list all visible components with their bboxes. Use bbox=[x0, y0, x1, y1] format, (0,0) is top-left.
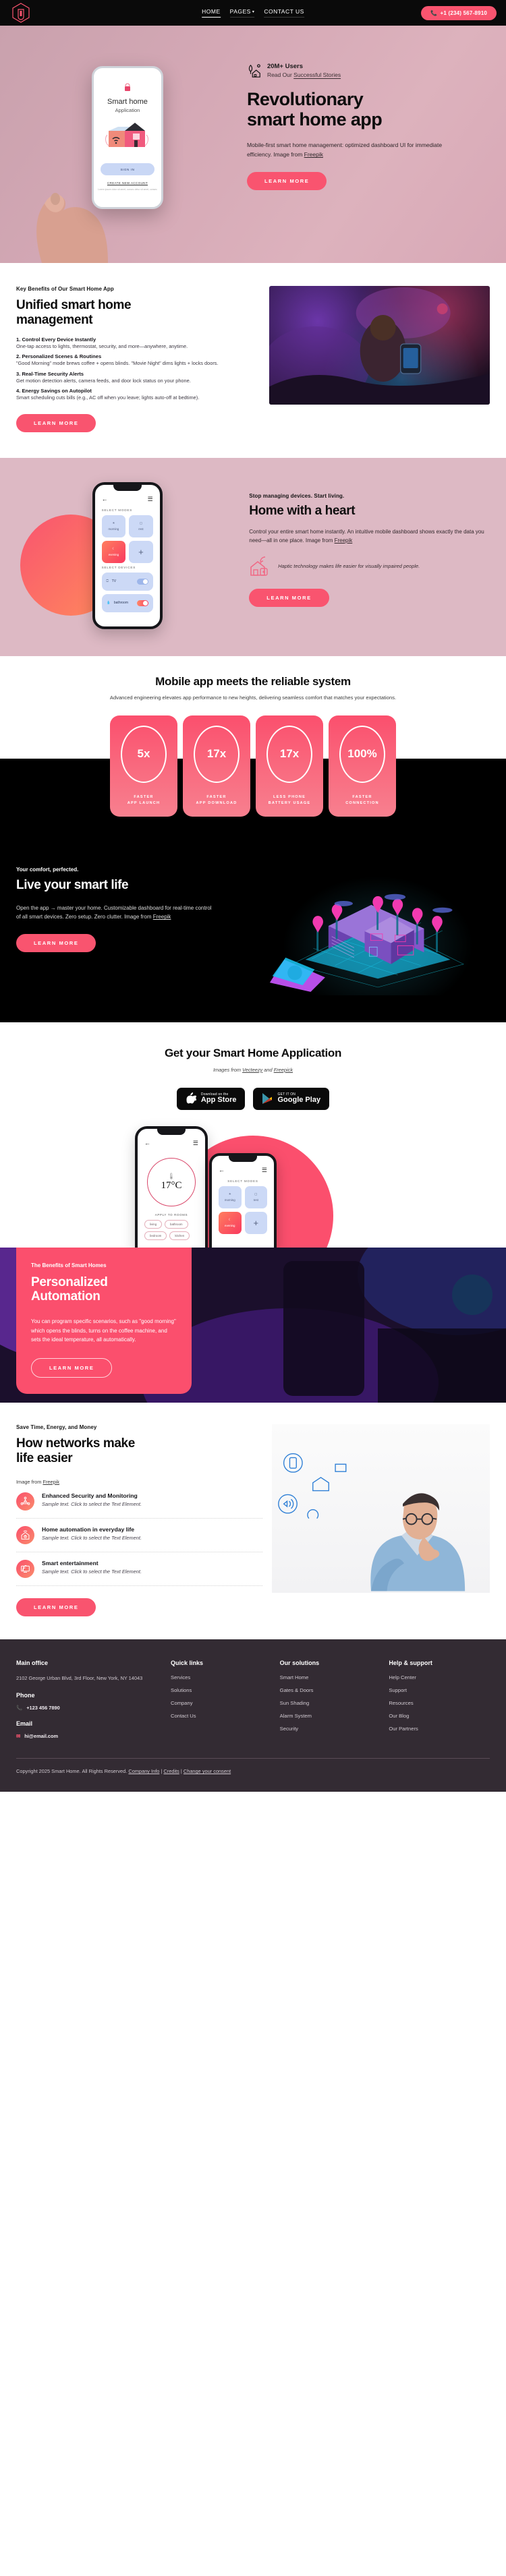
hamburger-menu-icon[interactable]: ☰ bbox=[193, 1140, 198, 1147]
device-toggle[interactable] bbox=[137, 600, 148, 606]
footer-help-column: Help & support Help Center Support Resou… bbox=[389, 1660, 490, 1740]
room-chip[interactable]: kitchen bbox=[169, 1231, 190, 1240]
benefits-title-line1: Unified smart home bbox=[16, 298, 131, 312]
mode-label: morning bbox=[225, 1198, 235, 1202]
hero-learn-more-button[interactable]: LEARN MORE bbox=[247, 172, 327, 190]
network-item-heading: Enhanced Security and Monitoring bbox=[42, 1492, 142, 1499]
sun-icon: ☀ bbox=[229, 1192, 231, 1196]
image-credit-prefix: Image from bbox=[16, 1479, 43, 1485]
sofa-icon: ▢ bbox=[254, 1192, 257, 1196]
benefit-heading: 1. Control Every Device Instantly bbox=[16, 336, 256, 343]
credits-link[interactable]: Credits bbox=[163, 1768, 179, 1774]
home-wifi-icon bbox=[16, 1526, 34, 1544]
temperature-value: 17°C bbox=[161, 1180, 181, 1192]
device-label: TV bbox=[112, 579, 116, 583]
heart-paragraph-text: Control your entire smart home instantly… bbox=[249, 529, 484, 544]
hero-paragraph-link[interactable]: Freepik bbox=[304, 151, 323, 158]
footer-column-heading: Our solutions bbox=[280, 1660, 381, 1666]
mode-card-rest[interactable]: ▢ rest bbox=[129, 515, 153, 537]
site-header: HOME PAGES ▾ CONTACT US 📞 +1 (234) 567-8… bbox=[0, 0, 506, 26]
phone-icon: 📞 bbox=[16, 1705, 22, 1711]
get-app-section: Get your Smart Home Application Images f… bbox=[0, 1022, 506, 1248]
automation-title: Personalized Automation bbox=[31, 1275, 177, 1304]
stat-caption-line1: LESS PHONE bbox=[273, 795, 306, 799]
stat-caption: FASTER CONNECTION bbox=[345, 794, 379, 807]
mode-label: evening bbox=[225, 1224, 235, 1227]
footer-column-heading: Help & support bbox=[389, 1660, 490, 1666]
phone-notch bbox=[113, 485, 142, 491]
thermostat-phone-mockup: ← ☰ 🌡 17°C APPLY TO ROOMS living bathroo… bbox=[135, 1126, 208, 1248]
benefit-heading: 3. Real-Time Security Alerts bbox=[16, 371, 256, 377]
hero-stories-line: Read Our Successful Stories bbox=[267, 71, 341, 78]
stats-cards: 5x FASTER APP LAUNCH 17x FASTER APP DOWN… bbox=[0, 715, 506, 817]
mode-label: evening bbox=[109, 553, 119, 556]
nav-item-contact-us[interactable]: CONTACT US bbox=[264, 8, 304, 18]
mode-card-rest[interactable]: ▢ rest bbox=[245, 1186, 268, 1208]
footer-link[interactable]: Sun Shading bbox=[280, 1700, 381, 1706]
stat-card: 5x FASTER APP LAUNCH bbox=[110, 715, 177, 817]
google-play-line2: Google Play bbox=[277, 1096, 320, 1105]
network-item-heading: Home automation in everyday life bbox=[42, 1526, 142, 1533]
live-paragraph: Open the app → master your home. Customi… bbox=[16, 904, 212, 922]
footer-email-heading: Email bbox=[16, 1720, 163, 1727]
stat-value: 17x bbox=[194, 726, 240, 783]
mode-card-morning[interactable]: ☀ morning bbox=[102, 515, 126, 537]
hero-phone-title: Smart home bbox=[94, 98, 161, 106]
nav-item-pages[interactable]: PAGES ▾ bbox=[230, 8, 255, 18]
footer-link[interactable]: Our Blog bbox=[389, 1713, 490, 1719]
moon-icon: ☾ bbox=[229, 1218, 231, 1222]
back-arrow-icon[interactable]: ← bbox=[102, 496, 108, 503]
smart-home-logo[interactable] bbox=[9, 1, 32, 24]
hero-phone-subtitle: Application bbox=[94, 107, 161, 113]
stats-title: Mobile app meets the reliable system bbox=[0, 675, 506, 689]
image-credit-link[interactable]: Freepik bbox=[43, 1479, 59, 1485]
app-store-line2: App Store bbox=[201, 1096, 237, 1105]
hero-phone-mockup: Smart home Application bbox=[92, 66, 163, 209]
change-consent-link[interactable]: Change your consent bbox=[184, 1768, 231, 1774]
device-toggle[interactable] bbox=[137, 579, 148, 585]
footer-office-heading: Main office bbox=[16, 1660, 163, 1666]
networks-section: Save Time, Energy, and Money How network… bbox=[0, 1403, 506, 1639]
tv-icon: ⎕ bbox=[107, 579, 109, 583]
select-devices-label: SELECT DEVICES bbox=[95, 566, 160, 569]
stat-caption-line1: FASTER bbox=[206, 795, 226, 799]
room-chip-list: living bathroom bedroom kitchen bbox=[138, 1217, 205, 1240]
hero-title-line1: Revolutionary bbox=[247, 89, 363, 109]
automation-title-line1: Personalized bbox=[31, 1275, 108, 1289]
benefit-body: "Good Morning" mode brews coffee + opens… bbox=[16, 359, 256, 367]
live-title: Live your smart life bbox=[16, 878, 259, 893]
footer-email-value: hi@email.com bbox=[24, 1733, 58, 1739]
hero-paragraph: Mobile-first smart home management: opti… bbox=[247, 140, 453, 159]
benefits-title: Unified smart home management bbox=[16, 298, 256, 328]
hero-paragraph-text: Mobile-first smart home management: opti… bbox=[247, 142, 442, 158]
benefits-section: Key Benefits of Our Smart Home App Unifi… bbox=[0, 263, 506, 458]
stat-card: 17x LESS PHONE BATTERY USAGE bbox=[256, 715, 323, 817]
stat-value: 100% bbox=[339, 726, 385, 783]
stat-caption-line2: CONNECTION bbox=[345, 801, 379, 805]
stats-subtitle: Advanced engineering elevates app perfor… bbox=[0, 695, 506, 701]
device-row-bathroom[interactable]: 💧 bathroom bbox=[102, 594, 153, 612]
chevron-down-icon: ▾ bbox=[252, 9, 255, 14]
stat-value: 17x bbox=[266, 726, 312, 783]
device-label: bathroom bbox=[114, 601, 128, 605]
automation-paragraph: You can program specific scenarios, such… bbox=[31, 1317, 177, 1345]
mode-label: rest bbox=[138, 527, 143, 531]
benefit-heading: 2. Personalized Scenes & Routines bbox=[16, 353, 256, 359]
stat-caption: FASTER APP LAUNCH bbox=[128, 794, 161, 807]
stat-caption-line2: APP DOWNLOAD bbox=[196, 801, 237, 805]
footer-office-address: 2102 George Urban Blvd, 3rd Floor, New Y… bbox=[16, 1674, 163, 1683]
credits-prefix: Images from bbox=[213, 1067, 242, 1073]
stat-caption: LESS PHONE BATTERY USAGE bbox=[269, 794, 311, 807]
network-item-body: Sample text. Click to select the Text El… bbox=[42, 1535, 142, 1541]
hero-phone-visual: Smart home Application bbox=[16, 26, 239, 263]
smart-tv-icon bbox=[16, 1560, 34, 1578]
networks-image-credit: Image from Freepik bbox=[16, 1479, 262, 1485]
nav-label: CONTACT US bbox=[264, 8, 304, 15]
list-divider bbox=[16, 1585, 262, 1586]
heart-title: Home with a heart bbox=[249, 504, 490, 519]
benefits-list: 1. Control Every Device Instantly One-ta… bbox=[16, 336, 256, 402]
automation-card: The Benefits of Smart Homes Personalized… bbox=[16, 1248, 192, 1394]
network-item-automation[interactable]: Home automation in everyday life Sample … bbox=[16, 1518, 262, 1552]
heart-kicker: Stop managing devices. Start living. bbox=[249, 493, 490, 499]
footer-solutions-column: Our solutions Smart Home Gates & Doors S… bbox=[280, 1660, 381, 1740]
device-row-tv[interactable]: ⎕ TV bbox=[102, 573, 153, 591]
footer-copyright: Copyright 2025 Smart Home. All Rights Re… bbox=[16, 1759, 490, 1792]
google-play-icon bbox=[262, 1092, 273, 1105]
hero-users-count: 20M+ Users bbox=[267, 63, 341, 70]
thermometer-icon: 🌡 bbox=[167, 1173, 175, 1180]
nav-item-home[interactable]: HOME bbox=[202, 8, 221, 18]
network-item-heading: Smart entertainment bbox=[42, 1560, 142, 1567]
automation-title-line2: Automation bbox=[31, 1289, 101, 1304]
benefits-photo bbox=[269, 286, 490, 405]
stat-caption-line1: FASTER bbox=[352, 795, 372, 799]
house-tree-icon bbox=[247, 63, 262, 78]
google-play-button[interactable]: GET IT ON Google Play bbox=[253, 1088, 329, 1110]
apple-icon bbox=[186, 1092, 196, 1105]
footer-link[interactable]: Resources bbox=[389, 1700, 490, 1706]
footer-link[interactable]: Security bbox=[280, 1726, 381, 1732]
header-phone-button[interactable]: 📞 +1 (234) 567-8910 bbox=[421, 6, 497, 20]
footer-link[interactable]: Contact Us bbox=[171, 1713, 272, 1719]
stat-card: 100% FASTER CONNECTION bbox=[329, 715, 396, 817]
credits-mid: and bbox=[262, 1067, 273, 1073]
mode-card-evening[interactable]: ☾ evening bbox=[219, 1212, 242, 1234]
site-footer: Main office 2102 George Urban Blvd, 3rd … bbox=[0, 1639, 506, 1792]
footer-link[interactable]: Company bbox=[171, 1700, 272, 1706]
room-chip[interactable]: living bbox=[144, 1220, 162, 1229]
hero-phone-fine-print: Lorem ipsum dolor sit amet, consec detur… bbox=[94, 188, 161, 192]
copyright-text: Copyright 2025 Smart Home. All Rights Re… bbox=[16, 1768, 128, 1774]
stat-caption-line2: BATTERY USAGE bbox=[269, 801, 311, 805]
hero-stories-prefix: Read Our bbox=[267, 71, 293, 78]
network-item-body: Sample text. Click to select the Text El… bbox=[42, 1501, 142, 1507]
phone-notch bbox=[157, 1129, 186, 1135]
heart-learn-more-button[interactable]: LEARN MORE bbox=[249, 589, 329, 607]
live-kicker: Your comfort, perfected. bbox=[16, 867, 259, 873]
footer-link[interactable]: Support bbox=[389, 1687, 490, 1693]
footer-column-heading: Quick links bbox=[171, 1660, 272, 1666]
footer-email-row[interactable]: ✉ hi@email.com bbox=[16, 1733, 163, 1739]
mode-card-evening[interactable]: ☾ evening bbox=[102, 541, 126, 563]
benefits-learn-more-button[interactable]: LEARN MORE bbox=[16, 414, 96, 432]
sofa-icon: ▢ bbox=[140, 521, 142, 525]
mode-label: rest bbox=[254, 1198, 258, 1202]
store-badges: Download on the App Store GET IT ON Goog… bbox=[16, 1088, 490, 1110]
smart-home-signal-icon bbox=[249, 556, 272, 577]
live-paragraph-text: Open the app → master your home. Customi… bbox=[16, 905, 211, 920]
benefit-body: Get motion detection alerts, camera feed… bbox=[16, 377, 256, 384]
hero-title-line2: smart home app bbox=[247, 109, 382, 129]
lock-icon bbox=[123, 83, 132, 92]
footer-phone-heading: Phone bbox=[16, 1692, 163, 1699]
mode-card-morning[interactable]: ☀ morning bbox=[219, 1186, 242, 1208]
phone-icon: 📞 bbox=[430, 10, 437, 16]
get-app-title: Get your Smart Home Application bbox=[16, 1047, 490, 1060]
nav-label: PAGES bbox=[230, 8, 251, 15]
benefits-title-line2: management bbox=[16, 313, 92, 327]
hero-title: Revolutionary smart home app bbox=[247, 89, 490, 129]
networks-learn-more-button[interactable]: LEARN MORE bbox=[16, 1598, 96, 1616]
networks-title: How networks make life easier bbox=[16, 1436, 262, 1467]
benefit-body: One-tap access to lights, thermostat, se… bbox=[16, 343, 256, 350]
modes-phone-mockup: ← ☰ SELECT MODES ☀ morning ▢ rest ☾ even… bbox=[92, 482, 163, 629]
envelope-icon: ✉ bbox=[16, 1733, 20, 1739]
network-nodes-icon bbox=[16, 1492, 34, 1511]
benefits-kicker: Key Benefits of Our Smart Home App bbox=[16, 286, 256, 292]
company-info-link[interactable]: Company Info bbox=[128, 1768, 159, 1774]
automation-section: The Benefits of Smart Homes Personalized… bbox=[0, 1248, 506, 1403]
network-item-security[interactable]: Enhanced Security and Monitoring Sample … bbox=[16, 1485, 262, 1518]
stat-card: 17x FASTER APP DOWNLOAD bbox=[183, 715, 250, 817]
hero-users-badge: 20M+ Users Read Our Successful Stories bbox=[247, 63, 490, 78]
thinking-man-with-icons bbox=[272, 1424, 490, 1593]
signin-button[interactable]: SIGN IN bbox=[101, 163, 154, 175]
footer-phone-value: +123 456 7890 bbox=[26, 1705, 60, 1711]
haptic-note: Haptic technology makes life easier for … bbox=[249, 556, 490, 577]
hero-section: Smart home Application bbox=[0, 26, 506, 263]
main-nav: HOME PAGES ▾ CONTACT US bbox=[202, 8, 304, 18]
moon-icon: ☾ bbox=[112, 547, 115, 551]
footer-link[interactable]: Solutions bbox=[171, 1687, 272, 1693]
live-learn-more-button[interactable]: LEARN MORE bbox=[16, 934, 96, 952]
mode-label: morning bbox=[108, 527, 119, 531]
networks-title-line2: life easier bbox=[16, 1451, 72, 1465]
room-chip[interactable]: bedroom bbox=[144, 1231, 167, 1240]
stats-section: Mobile app meets the reliable system Adv… bbox=[0, 656, 506, 817]
water-drop-icon: 💧 bbox=[107, 601, 111, 605]
automation-kicker: The Benefits of Smart Homes bbox=[31, 1262, 177, 1268]
header-phone-label: +1 (234) 567-8910 bbox=[441, 10, 487, 16]
plus-icon: + bbox=[253, 1218, 258, 1228]
get-app-credits: Images from Vecteezy and Freepick bbox=[16, 1067, 490, 1073]
stat-caption: FASTER APP DOWNLOAD bbox=[196, 794, 237, 807]
networks-title-line1: How networks make bbox=[16, 1436, 135, 1451]
vecteezy-link[interactable]: Vecteezy bbox=[242, 1067, 262, 1073]
footer-office-column: Main office 2102 George Urban Blvd, 3rd … bbox=[16, 1660, 163, 1740]
hamburger-menu-icon[interactable]: ☰ bbox=[148, 496, 153, 503]
modes-phone-mockup-secondary: ← ☰ SELECT MODES ☀ morning ▢ rest ☾ even… bbox=[209, 1153, 277, 1248]
benefit-body: Smart scheduling cuts bills (e.g., AC of… bbox=[16, 394, 256, 401]
automation-learn-more-button[interactable]: LEARN MORE bbox=[31, 1358, 112, 1378]
isometric-smart-house-illustration bbox=[266, 864, 490, 995]
stat-caption-line1: FASTER bbox=[134, 795, 153, 799]
networks-kicker: Save Time, Energy, and Money bbox=[16, 1424, 262, 1430]
benefit-heading: 4. Energy Savings on Autopilot bbox=[16, 388, 256, 394]
back-arrow-icon[interactable]: ← bbox=[219, 1167, 225, 1174]
plus-icon: + bbox=[138, 547, 144, 557]
freepick-link[interactable]: Freepick bbox=[274, 1067, 293, 1073]
stat-caption-line2: APP LAUNCH bbox=[128, 801, 161, 805]
live-paragraph-link[interactable]: Freepik bbox=[153, 914, 171, 920]
nav-label: HOME bbox=[202, 8, 221, 15]
mode-card-add[interactable]: + bbox=[245, 1212, 268, 1234]
footer-link[interactable]: Gates & Doors bbox=[280, 1687, 381, 1693]
footer-link[interactable]: Help Center bbox=[389, 1674, 490, 1680]
network-item-body: Sample text. Click to select the Text El… bbox=[42, 1569, 142, 1575]
hero-stories-link[interactable]: Successful Stories bbox=[293, 71, 341, 78]
app-store-button[interactable]: Download on the App Store bbox=[177, 1088, 246, 1110]
footer-phone-row[interactable]: 📞 +123 456 7890 bbox=[16, 1705, 163, 1711]
sun-icon: ☀ bbox=[112, 521, 115, 525]
house-illustration bbox=[103, 121, 152, 152]
heart-section: ← ☰ SELECT MODES ☀ morning ▢ rest ☾ even… bbox=[0, 458, 506, 656]
footer-quick-links-column: Quick links Services Solutions Company C… bbox=[171, 1660, 272, 1740]
footer-link[interactable]: Services bbox=[171, 1674, 272, 1680]
phone-notch bbox=[229, 1156, 257, 1162]
networks-photo bbox=[272, 1424, 490, 1593]
network-item-entertainment[interactable]: Smart entertainment Sample text. Click t… bbox=[16, 1552, 262, 1585]
haptic-text: Haptic technology makes life easier for … bbox=[278, 562, 420, 570]
stat-value: 5x bbox=[121, 726, 167, 783]
footer-link[interactable]: Smart Home bbox=[280, 1674, 381, 1680]
room-chip[interactable]: bathroom bbox=[165, 1220, 188, 1229]
temperature-dial[interactable]: 🌡 17°C bbox=[147, 1158, 196, 1206]
footer-link[interactable]: Our Partners bbox=[389, 1726, 490, 1732]
heart-paragraph-link[interactable]: Freepik bbox=[335, 537, 353, 544]
heart-paragraph: Control your entire smart home instantly… bbox=[249, 527, 490, 546]
mode-card-add[interactable]: + bbox=[129, 541, 153, 563]
hamburger-menu-icon[interactable]: ☰ bbox=[262, 1167, 267, 1174]
back-arrow-icon[interactable]: ← bbox=[144, 1140, 150, 1147]
get-app-mockups: ← ☰ 🌡 17°C APPLY TO ROOMS living bathroo… bbox=[16, 1126, 490, 1248]
footer-link[interactable]: Alarm System bbox=[280, 1713, 381, 1719]
create-account-link[interactable]: CREATE NEW ACCOUNT bbox=[94, 181, 161, 185]
